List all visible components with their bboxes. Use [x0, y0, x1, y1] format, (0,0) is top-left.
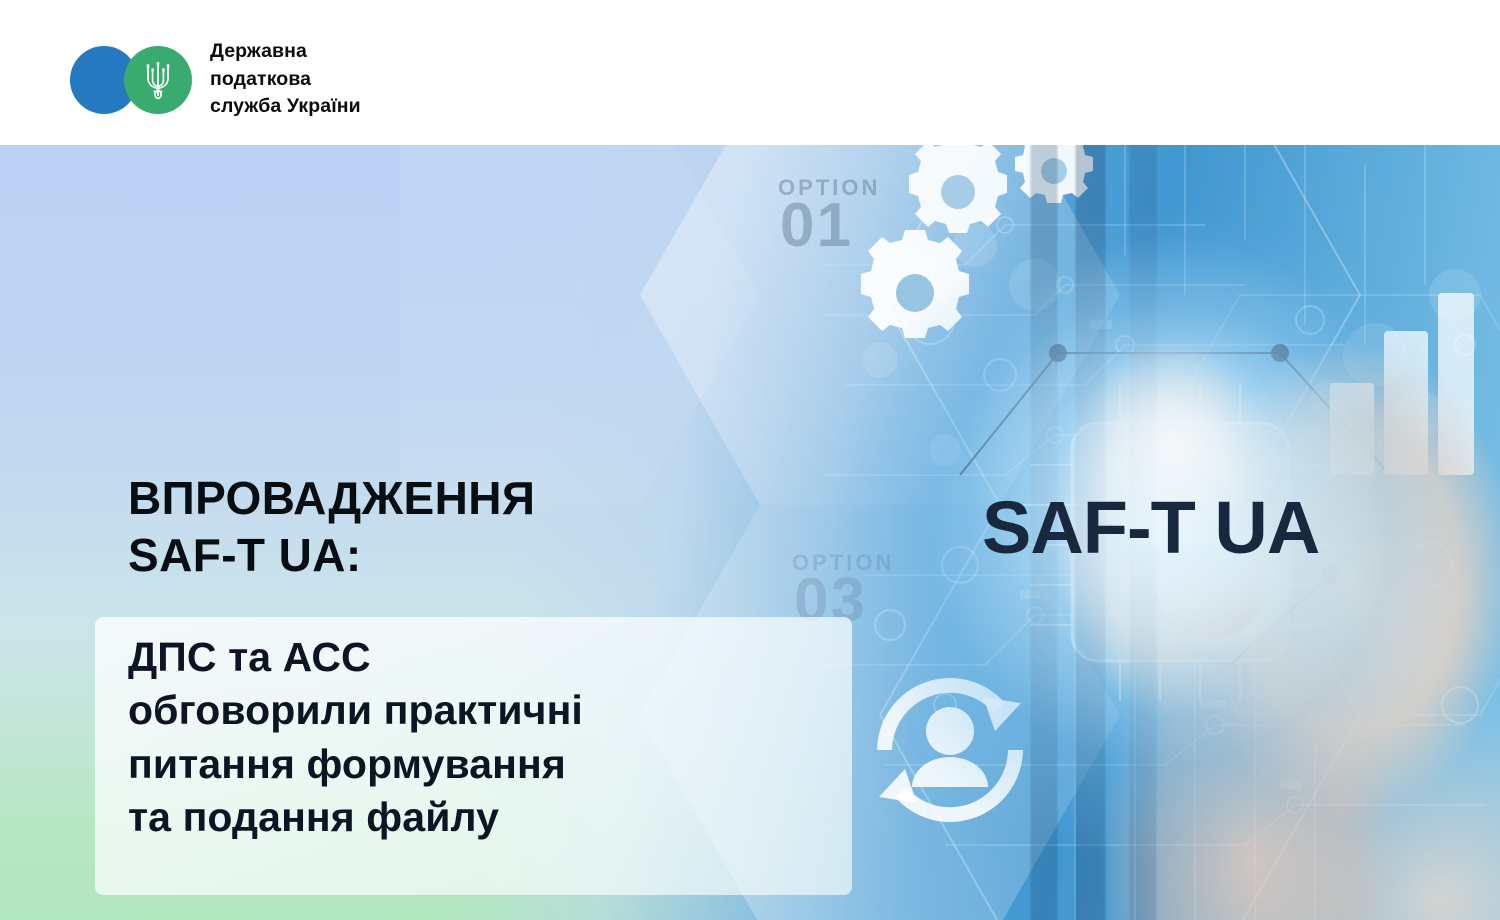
hero-banner: OPTION 01 OPTION 03 SAF-T UA ВПРОВАДЖЕНН… — [0, 145, 1500, 920]
page-subtitle: ДПС та АСС обговорили практичні питання … — [128, 631, 928, 844]
logo-circles — [70, 46, 192, 114]
agency-logo: Державна податкова служба України — [70, 38, 361, 121]
option-01-number: 01 — [780, 197, 853, 256]
saft-ua-overlay-label: SAF-T UA — [982, 485, 1319, 570]
poster-root: Державна податкова служба України — [0, 0, 1500, 920]
header-band: Державна податкова служба України — [0, 0, 1500, 145]
ukraine-trident-icon — [144, 58, 172, 102]
page-title: ВПРОВАДЖЕННЯ SAF-T UA: — [128, 470, 535, 583]
agency-name: Державна податкова служба України — [210, 38, 361, 121]
